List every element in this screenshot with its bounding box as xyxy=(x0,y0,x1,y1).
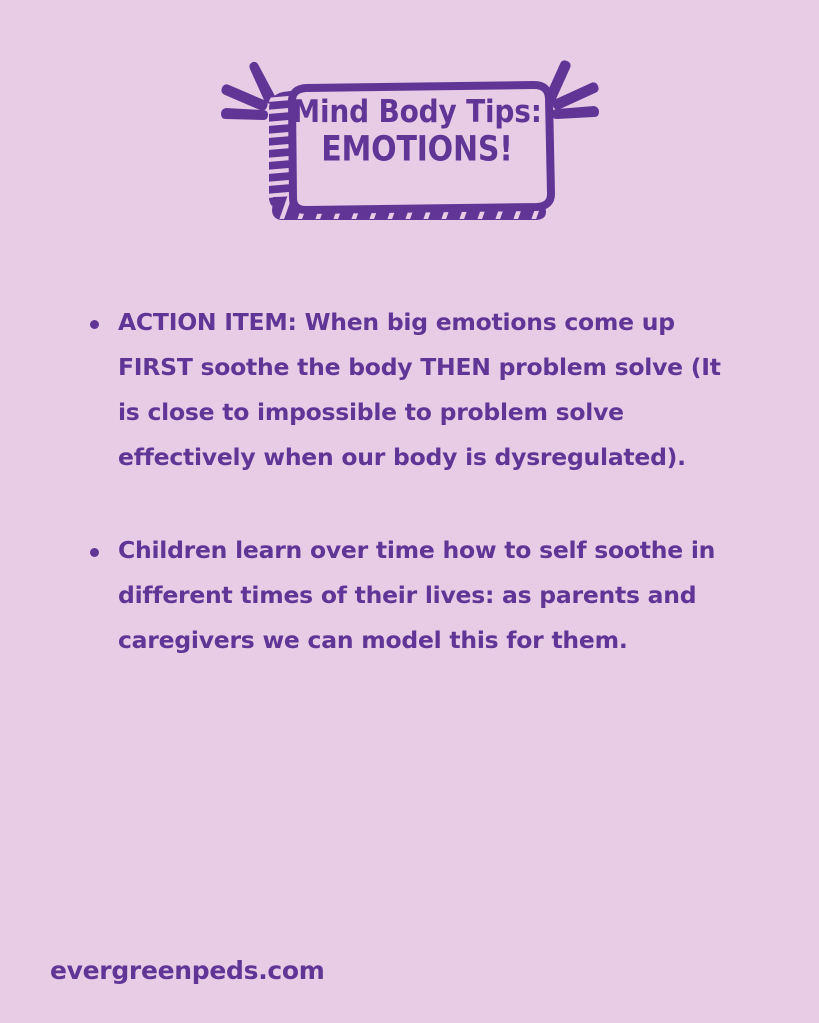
bullet-dot-icon xyxy=(90,548,99,557)
title-text-block: Mind Body Tips: EMOTIONS! xyxy=(292,96,542,163)
tips-bullet-list: ACTION ITEM: When big emotions come up F… xyxy=(84,300,744,663)
header-area: Mind Body Tips: EMOTIONS! xyxy=(0,0,819,250)
bullet-text: Children learn over time how to self soo… xyxy=(118,528,744,663)
title-line-1: Mind Body Tips: xyxy=(292,96,542,128)
bullet-text: ACTION ITEM: When big emotions come up F… xyxy=(118,300,744,480)
title-line-2: EMOTIONS! xyxy=(292,133,542,168)
sparkle-right-middle-icon xyxy=(552,82,598,109)
footer-website: evergreenpeds.com xyxy=(50,956,325,985)
list-item: Children learn over time how to self soo… xyxy=(84,528,744,663)
bullet-dot-icon xyxy=(90,320,99,329)
sparkle-right-lower-icon xyxy=(552,106,599,119)
list-item: ACTION ITEM: When big emotions come up F… xyxy=(84,300,744,480)
title-badge: Mind Body Tips: EMOTIONS! xyxy=(262,78,558,223)
poster-canvas: Mind Body Tips: EMOTIONS! ACTION ITEM: W… xyxy=(0,0,819,1023)
sparkle-left-lower-icon xyxy=(221,108,268,120)
sparkle-left-middle-icon xyxy=(221,84,267,110)
